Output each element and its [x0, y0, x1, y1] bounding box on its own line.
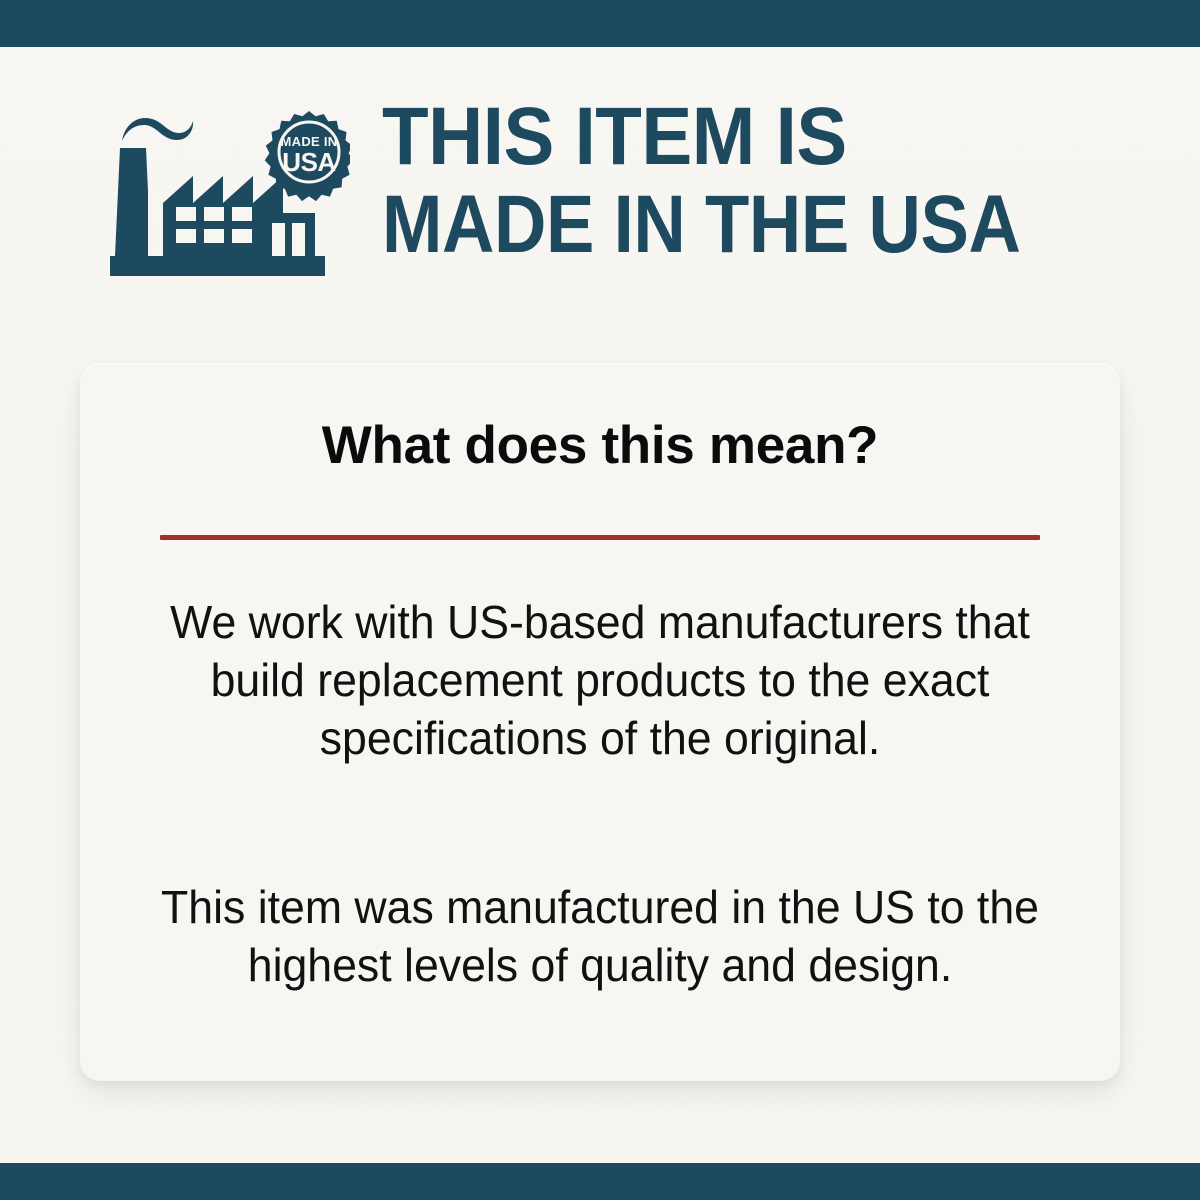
- page-title-line-2: MADE IN THE USA: [382, 181, 1081, 269]
- card-paragraph-1: We work with US-based manufacturers that…: [154, 593, 1046, 767]
- page-title: THIS ITEM IS MADE IN THE USA: [382, 93, 1172, 269]
- bottom-accent-bar: [0, 1163, 1200, 1200]
- page-title-line-1: THIS ITEM IS: [382, 93, 1117, 181]
- factory-with-made-in-usa-badge-icon: MADE IN USA: [100, 103, 350, 283]
- info-card: What does this mean? We work with US-bas…: [80, 363, 1120, 1081]
- card-paragraph-2: This item was manufactured in the US to …: [154, 878, 1046, 994]
- badge-usa-label: USA: [282, 147, 336, 177]
- card-heading: What does this mean?: [80, 416, 1120, 476]
- card-divider: [160, 535, 1040, 540]
- top-accent-bar: [0, 0, 1200, 47]
- header: MADE IN USA THIS ITEM IS MADE IN THE USA: [0, 85, 1200, 295]
- made-in-usa-info-graphic: MADE IN USA THIS ITEM IS MADE IN THE USA…: [0, 0, 1200, 1200]
